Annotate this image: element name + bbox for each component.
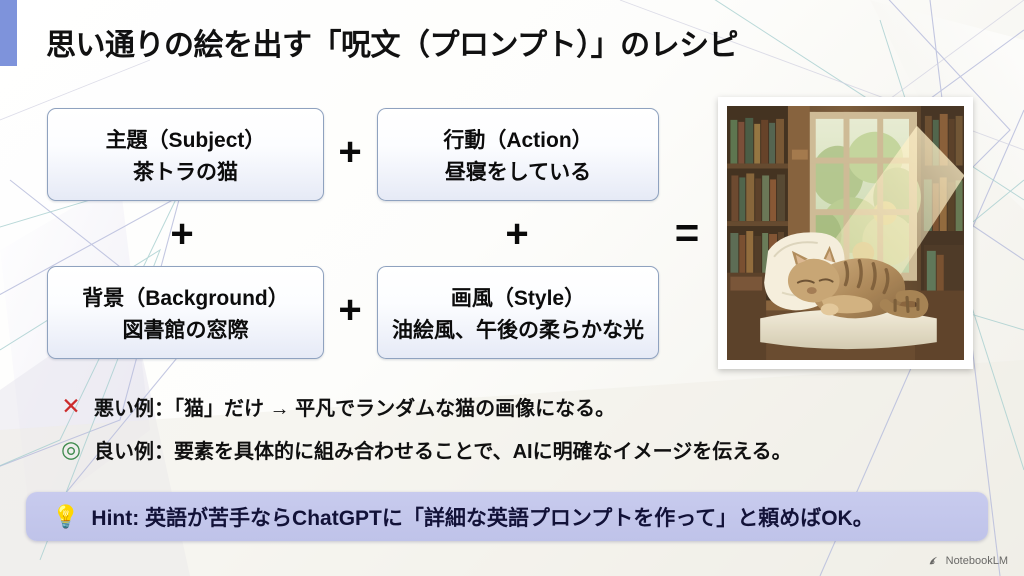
- title-accent-bar: [0, 0, 17, 66]
- recipe-box-background-label: 背景（Background）: [82, 282, 289, 312]
- page-title: 思い通りの絵を出す「呪文（プロンプト）」のレシピ: [46, 20, 738, 64]
- recipe-box-style: 画風（Style） 油絵風、午後の柔らかな光: [377, 266, 659, 359]
- note-bad-example: ✕ 悪い例：「猫」だけ → 平凡でランダムな猫の画像になる。: [58, 392, 615, 421]
- note-good-example: ◎ 良い例：要素を具体的に組み合わせることで、AIに明確なイメージを伝える。: [58, 435, 792, 464]
- recipe-box-background: 背景（Background） 図書館の窓際: [47, 266, 324, 359]
- recipe-box-subject-label: 主題（Subject）: [106, 124, 266, 154]
- plus-operator-column2: +: [497, 214, 537, 254]
- watermark-label: NotebookLM: [946, 555, 1008, 567]
- recipe-box-action: 行動（Action） 昼寝をしている: [377, 108, 659, 201]
- recipe-box-subject-value: 茶トラの猫: [133, 156, 238, 186]
- cross-mark-icon: ✕: [58, 395, 84, 418]
- hint-text: Hint: 英語が苦手ならChatGPTに「詳細な英語プロンプトを作って」と頼め…: [91, 502, 873, 532]
- note-bad-example-text: 悪い例：「猫」だけ → 平凡でランダムな猫の画像になる。: [94, 392, 615, 421]
- result-image-frame: [718, 97, 973, 369]
- result-image-cat-in-library: [727, 106, 964, 360]
- slide-canvas: 思い通りの絵を出す「呪文（プロンプト）」のレシピ 主題（Subject） 茶トラ…: [0, 0, 1024, 576]
- recipe-box-action-label: 行動（Action）: [443, 124, 592, 154]
- watermark: NotebookLM: [928, 554, 1008, 567]
- plus-operator-column1: +: [162, 214, 202, 254]
- recipe-box-background-value: 図書館の窓際: [123, 314, 249, 344]
- recipe-box-style-label: 画風（Style）: [451, 282, 585, 312]
- equals-operator: =: [665, 212, 709, 254]
- plus-operator-row2: +: [330, 290, 370, 330]
- plus-operator-row1: +: [330, 132, 370, 172]
- lightbulb-icon: 💡: [52, 506, 79, 528]
- notebooklm-logo-icon: [928, 554, 941, 567]
- recipe-box-action-value: 昼寝をしている: [445, 156, 591, 186]
- hint-banner: 💡 Hint: 英語が苦手ならChatGPTに「詳細な英語プロンプトを作って」と…: [26, 492, 988, 541]
- recipe-box-subject: 主題（Subject） 茶トラの猫: [47, 108, 324, 201]
- recipe-box-style-value: 油絵風、午後の柔らかな光: [392, 314, 644, 344]
- double-circle-icon: ◎: [58, 438, 84, 461]
- note-good-example-text: 良い例：要素を具体的に組み合わせることで、AIに明確なイメージを伝える。: [94, 435, 792, 464]
